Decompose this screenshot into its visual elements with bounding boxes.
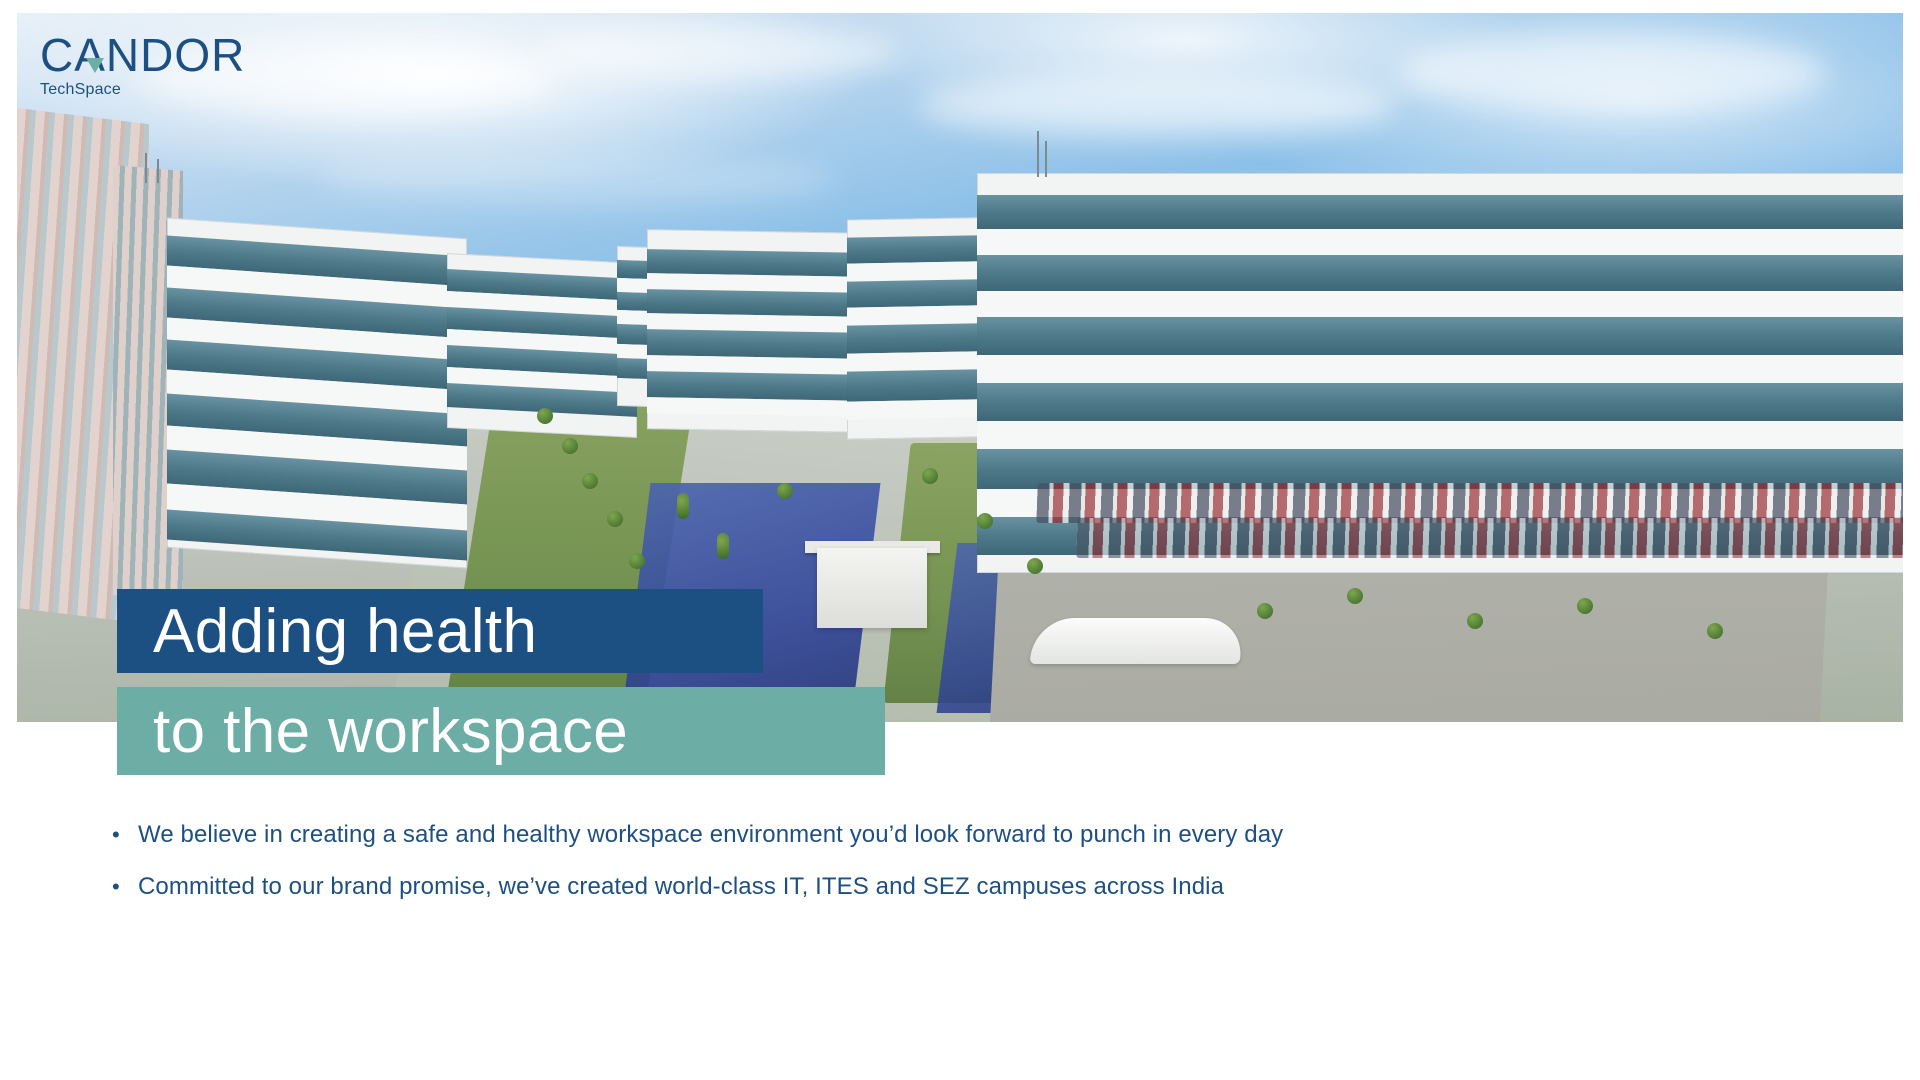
title-banner-line2: to the workspace bbox=[117, 687, 885, 775]
tree bbox=[1347, 588, 1363, 604]
tree bbox=[977, 513, 993, 529]
logo-wordmark: CANDOR bbox=[40, 32, 245, 78]
list-item: • We believe in creating a safe and heal… bbox=[112, 820, 1612, 850]
logo-subtitle: TechSpace bbox=[40, 81, 245, 99]
tree bbox=[1027, 558, 1043, 574]
tree bbox=[677, 493, 689, 519]
building-receding-c bbox=[647, 229, 867, 433]
cloud-shape bbox=[917, 73, 1397, 139]
antenna-mast bbox=[1037, 131, 1039, 177]
tree bbox=[629, 553, 645, 569]
tree bbox=[717, 533, 729, 559]
plaza-pavilion bbox=[817, 548, 927, 628]
tree bbox=[582, 473, 598, 489]
parked-cars-row bbox=[1036, 483, 1903, 523]
tree bbox=[607, 511, 623, 527]
bullet-list: • We believe in creating a safe and heal… bbox=[112, 820, 1612, 924]
tree bbox=[922, 468, 938, 484]
building-mid-left bbox=[167, 218, 467, 569]
logo-triangle-icon bbox=[86, 58, 104, 73]
bullet-text: Committed to our brand promise, we’ve cr… bbox=[138, 872, 1224, 902]
cloud-shape bbox=[537, 23, 897, 81]
bullet-text: We believe in creating a safe and health… bbox=[138, 820, 1283, 850]
list-item: • Committed to our brand promise, we’ve … bbox=[112, 872, 1612, 902]
tree bbox=[562, 438, 578, 454]
tree bbox=[777, 483, 793, 499]
cloud-shape bbox=[1397, 33, 1827, 113]
candor-techspace-logo[interactable]: CANDOR TechSpace bbox=[40, 32, 245, 99]
title-banner-line1: Adding health bbox=[117, 589, 763, 673]
tree bbox=[1707, 623, 1723, 639]
cloud-shape bbox=[317, 153, 837, 205]
antenna-mast bbox=[1045, 141, 1047, 177]
antenna-mast bbox=[157, 159, 159, 183]
bullet-marker-icon: • bbox=[112, 872, 138, 902]
antenna-mast bbox=[145, 153, 147, 183]
tree bbox=[537, 408, 553, 424]
walkway-canopy bbox=[1030, 618, 1245, 664]
parked-cars-row bbox=[1076, 518, 1903, 558]
bullet-marker-icon: • bbox=[112, 820, 138, 850]
tree bbox=[1577, 598, 1593, 614]
tree bbox=[1467, 613, 1483, 629]
title-line1-text: Adding health bbox=[153, 596, 537, 667]
title-line2-text: to the workspace bbox=[153, 696, 628, 767]
tree bbox=[1257, 603, 1273, 619]
slide-root: CANDOR TechSpace Adding health to the wo… bbox=[0, 0, 1920, 1080]
